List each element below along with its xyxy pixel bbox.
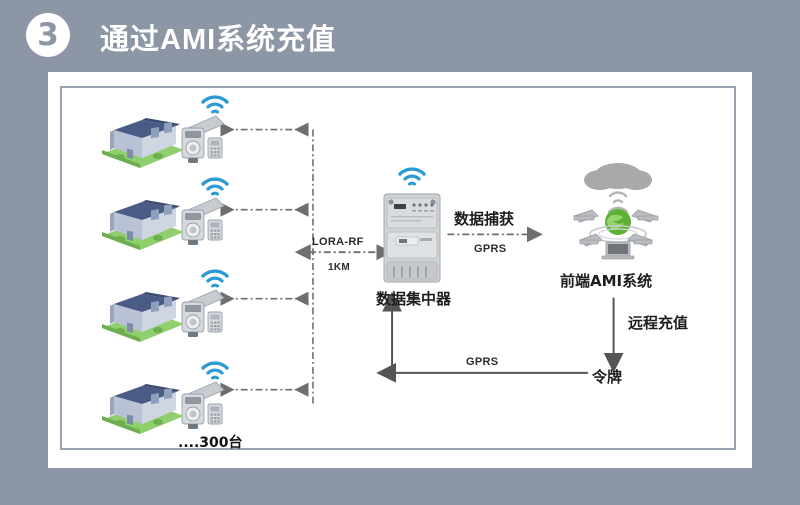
meters-count-label: ....300台: [178, 432, 243, 452]
wifi-signal-icon-1: [200, 94, 230, 116]
data-capture-protocol-label: GPRS: [474, 243, 506, 255]
wifi-signal-icon-concentrator: [397, 166, 427, 188]
step-number-badge: 3: [26, 13, 70, 57]
token-label: 令牌: [592, 366, 622, 387]
concentrator-label: 数据集中器: [376, 288, 451, 309]
lora-distance-label: 1KM: [328, 262, 350, 273]
data-capture-label: 数据捕获: [454, 208, 514, 229]
smart-meter-icon-3: [172, 288, 228, 344]
smart-meter-icon-2: [172, 196, 228, 252]
diagram-inner-panel: ....300台 LORA-RF 1KM: [60, 86, 736, 450]
wifi-signal-icon-4: [200, 360, 230, 382]
wifi-signal-icon-2: [200, 176, 230, 198]
smart-meter-icon-4: [172, 380, 228, 436]
page-header: 3 通过AMI系统充值: [0, 0, 800, 80]
diagram-outer-panel: ....300台 LORA-RF 1KM: [48, 72, 752, 468]
ami-system-label: 前端AMI系统: [560, 270, 652, 291]
ami-system-icon: [560, 154, 676, 262]
remote-recharge-label: 远程充值: [628, 312, 688, 333]
return-protocol-label: GPRS: [466, 356, 498, 368]
wifi-signal-icon-3: [200, 268, 230, 290]
page-title: 通过AMI系统充值: [100, 16, 336, 58]
data-concentrator-icon: [382, 192, 442, 284]
lora-rf-label: LORA-RF: [312, 236, 364, 248]
smart-meter-icon-1: [172, 114, 228, 170]
